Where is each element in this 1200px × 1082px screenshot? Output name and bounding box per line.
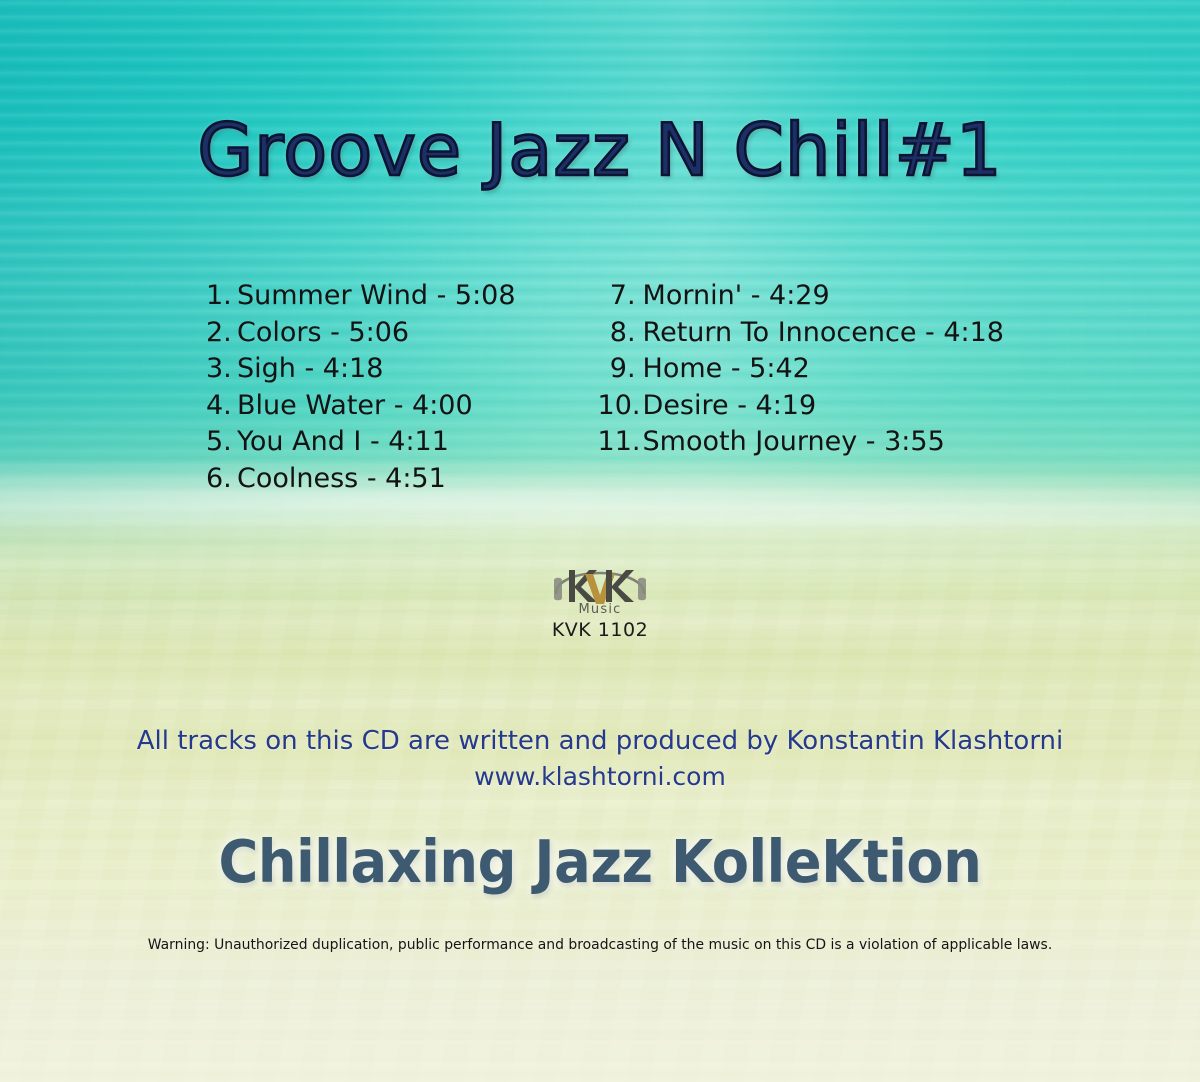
track-number: 1. (206, 278, 237, 315)
track-item: 11. Smooth Journey - 3:55 (598, 424, 1004, 461)
track-item: 7. Mornin' - 4:29 (598, 278, 1004, 315)
track-title-duration: Sigh - 4:18 (237, 351, 383, 388)
cover-content: Groove Jazz N Chill#1 1. Summer Wind - 5… (0, 0, 1200, 1082)
credits-block: All tracks on this CD are written and pr… (0, 723, 1200, 795)
tracklist: 1. Summer Wind - 5:08 2. Colors - 5:06 3… (0, 278, 1200, 497)
track-number: 2. (206, 315, 237, 352)
tracklist-column-right: 7. Mornin' - 4:29 8. Return To Innocence… (598, 278, 1004, 461)
track-item: 2. Colors - 5:06 (206, 315, 516, 352)
kvk-music-logo: Music (542, 550, 658, 616)
track-title-duration: Return To Innocence - 4:18 (643, 315, 1004, 352)
track-number: 5. (206, 424, 237, 461)
credits-line-website: www.klashtorni.com (0, 759, 1200, 795)
track-number: 11. (598, 424, 643, 461)
track-title-duration: Smooth Journey - 3:55 (643, 424, 945, 461)
track-item: 4. Blue Water - 4:00 (206, 388, 516, 425)
track-number: 7. (598, 278, 643, 315)
track-title-duration: Colors - 5:06 (237, 315, 409, 352)
tracklist-column-left: 1. Summer Wind - 5:08 2. Colors - 5:06 3… (206, 278, 516, 497)
track-item: 3. Sigh - 4:18 (206, 351, 516, 388)
collection-name: Chillaxing Jazz KolleKtion (48, 827, 1152, 896)
track-number: 10. (598, 388, 643, 425)
track-number: 8. (598, 315, 643, 352)
kvk-music-headphones-icon: Music (542, 550, 658, 616)
track-title-duration: Blue Water - 4:00 (237, 388, 473, 425)
track-number: 4. (206, 388, 237, 425)
copyright-warning: Warning: Unauthorized duplication, publi… (24, 937, 1176, 953)
cd-back-cover: Groove Jazz N Chill#1 1. Summer Wind - 5… (0, 0, 1200, 1082)
album-title: Groove Jazz N Chill#1 (0, 108, 1200, 192)
track-title-duration: You And I - 4:11 (237, 424, 449, 461)
logo-subtext: Music (579, 602, 622, 616)
track-number: 3. (206, 351, 237, 388)
catalog-number: KVK 1102 (0, 619, 1200, 641)
track-number: 9. (598, 351, 643, 388)
credits-line-producer: All tracks on this CD are written and pr… (0, 723, 1200, 759)
track-number: 6. (206, 461, 237, 498)
track-title-duration: Mornin' - 4:29 (643, 278, 830, 315)
track-title-duration: Summer Wind - 5:08 (237, 278, 516, 315)
track-item: 10. Desire - 4:19 (598, 388, 1004, 425)
track-item: 8. Return To Innocence - 4:18 (598, 315, 1004, 352)
track-title-duration: Coolness - 4:51 (237, 461, 446, 498)
track-title-duration: Desire - 4:19 (643, 388, 817, 425)
track-title-duration: Home - 5:42 (643, 351, 810, 388)
track-item: 6. Coolness - 4:51 (206, 461, 516, 498)
track-item: 9. Home - 5:42 (598, 351, 1004, 388)
track-item: 5. You And I - 4:11 (206, 424, 516, 461)
track-item: 1. Summer Wind - 5:08 (206, 278, 516, 315)
